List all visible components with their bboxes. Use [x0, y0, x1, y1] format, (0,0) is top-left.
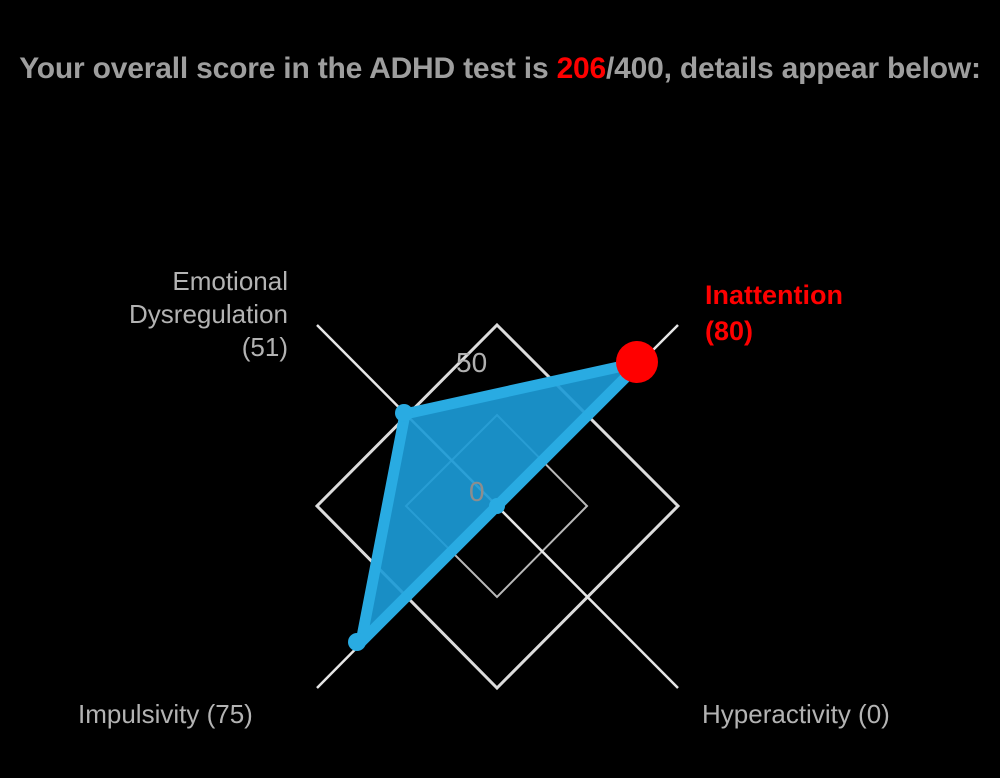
axis-label-emotional-dysregulation: Emotional Dysregulation (51): [28, 265, 288, 364]
data-point-inattention[interactable]: [616, 341, 658, 383]
axis-label-hyperactivity: Hyperactivity (0): [702, 698, 1000, 731]
radial-tick-50: 50: [456, 348, 487, 378]
axis-label-inattention: Inattention (80): [705, 277, 985, 349]
data-point-hyperactivity[interactable]: [489, 498, 505, 514]
data-point-emotional-dysregulation[interactable]: [395, 404, 413, 422]
axis-label-impulsivity: Impulsivity (75): [78, 698, 378, 731]
data-point-impulsivity[interactable]: [348, 633, 366, 651]
radial-tick-0: 0: [469, 477, 485, 507]
radar-chart-canvas: [0, 0, 1000, 778]
radar-chart: Emotional Dysregulation (51) Inattention…: [0, 0, 1000, 778]
